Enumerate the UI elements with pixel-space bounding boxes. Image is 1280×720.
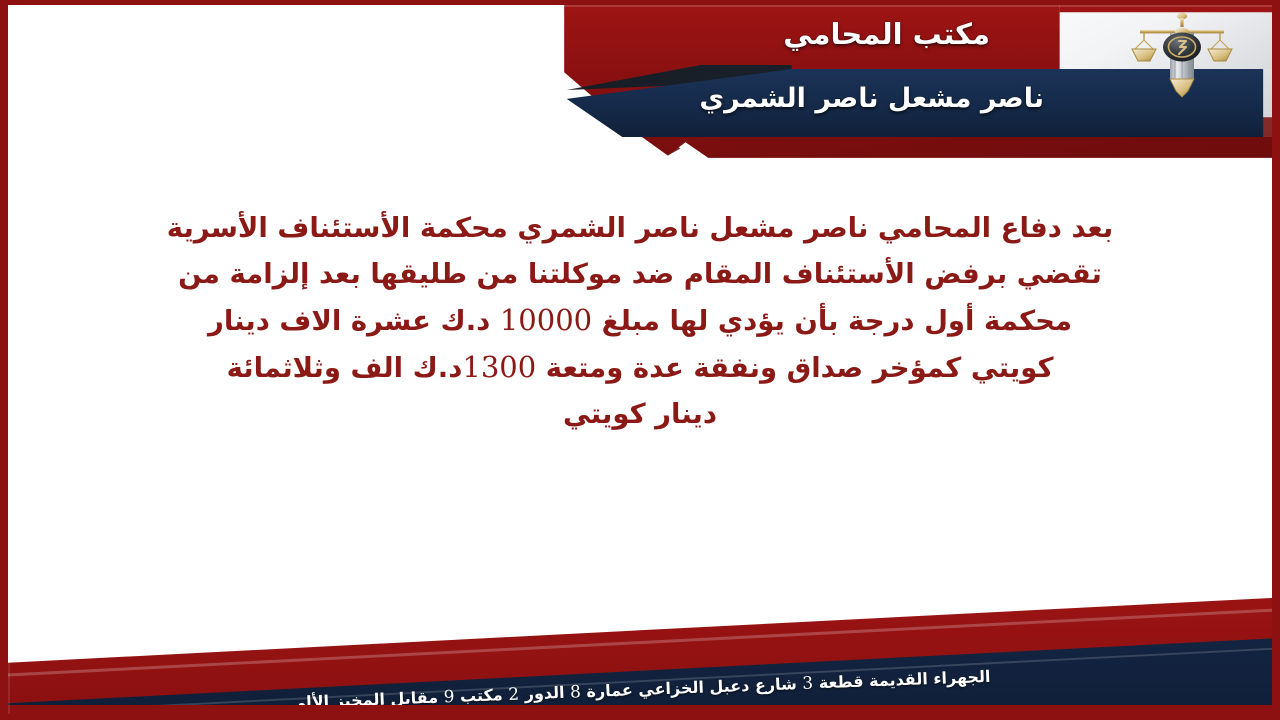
slide-page: مكتب المحامي ناصر مشعل ناصر الشمري بعد د… [8,5,1272,714]
announcement-line-3: محكمة أول درجة بأن يؤدي لها مبلغ 10000 د… [78,297,1202,344]
footer-base-strip [8,705,1272,714]
lawyer-name: ناصر مشعل ناصر الشمري [699,83,1044,114]
office-title: مكتب المحامي [783,17,990,51]
announcement-line-2: تقضي برفض الأستئناف المقام ضد موكلتنا من… [78,251,1202,297]
announcement-text: بعد دفاع المحامي ناصر مشعل ناصر الشمري م… [78,205,1202,437]
header-banner: مكتب المحامي ناصر مشعل ناصر الشمري [8,5,1272,205]
slide-root: مكتب المحامي ناصر مشعل ناصر الشمري بعد د… [0,0,1280,720]
announcement-line-4: كويتي كمؤخر صداق ونفقة عدة ومتعة 1300د.ك… [78,344,1202,391]
announcement-line-1: بعد دفاع المحامي ناصر مشعل ناصر الشمري م… [78,205,1202,251]
announcement-line-5: دينار كويتي [78,391,1202,437]
footer-banner: الجهراء القديمة قطعة 3 شارع دعبل الخزاعي… [8,579,1272,714]
scales-of-justice-icon [1130,7,1234,99]
